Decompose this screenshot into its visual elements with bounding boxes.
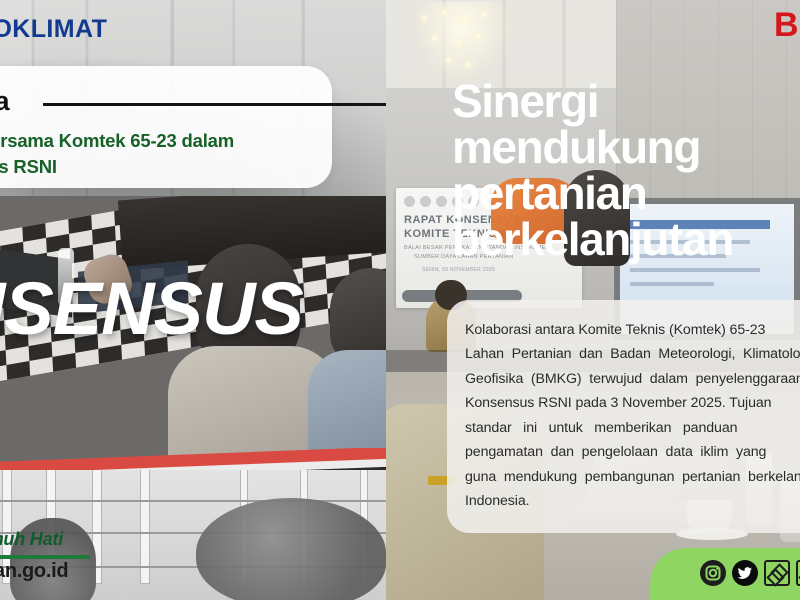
broken-image-icon-2[interactable] (796, 560, 800, 586)
left-panel: NSENSUS ta gi Bersama Komtek 65-23 dalam… (0, 0, 386, 600)
headline-line-3: pertanian (452, 170, 800, 216)
agroklimat-logo: ROKLIMAT (0, 15, 107, 44)
banner-line-5: SENIN, 03 NOVEMBER 2025 (422, 267, 495, 273)
body-text-card: Kolaborasi antara Komite Teknis (Komtek)… (447, 300, 800, 533)
tagline-rule (0, 555, 90, 559)
headline-line-2: mendukung (452, 124, 800, 170)
instagram-icon[interactable] (700, 560, 726, 586)
tagline-text: penuh Hati (0, 529, 63, 550)
kicker-label: ta (0, 86, 9, 117)
konsensus-watermark: NSENSUS (0, 272, 303, 346)
bmkg-logo: B (774, 6, 798, 45)
social-icon-row[interactable] (700, 560, 800, 586)
broken-image-icon-1[interactable] (764, 560, 790, 586)
poster-canvas: NSENSUS ta gi Bersama Komtek 65-23 dalam… (0, 0, 800, 600)
divider-rule (43, 103, 386, 106)
news-title: gi Bersama Komtek 65-23 dalamensus RSNI (0, 128, 356, 181)
tree (196, 498, 386, 600)
website-url: anian.go.id (0, 560, 68, 583)
twitter-icon[interactable] (732, 560, 758, 586)
headline-line-1: Sinergi (452, 78, 800, 124)
headline-line-4: berkelanjutan (452, 216, 800, 262)
body-paragraph: Kolaborasi antara Komite Teknis (Komtek)… (465, 318, 800, 513)
headline: Sinergi mendukung pertanian berkelanjuta… (452, 78, 800, 262)
